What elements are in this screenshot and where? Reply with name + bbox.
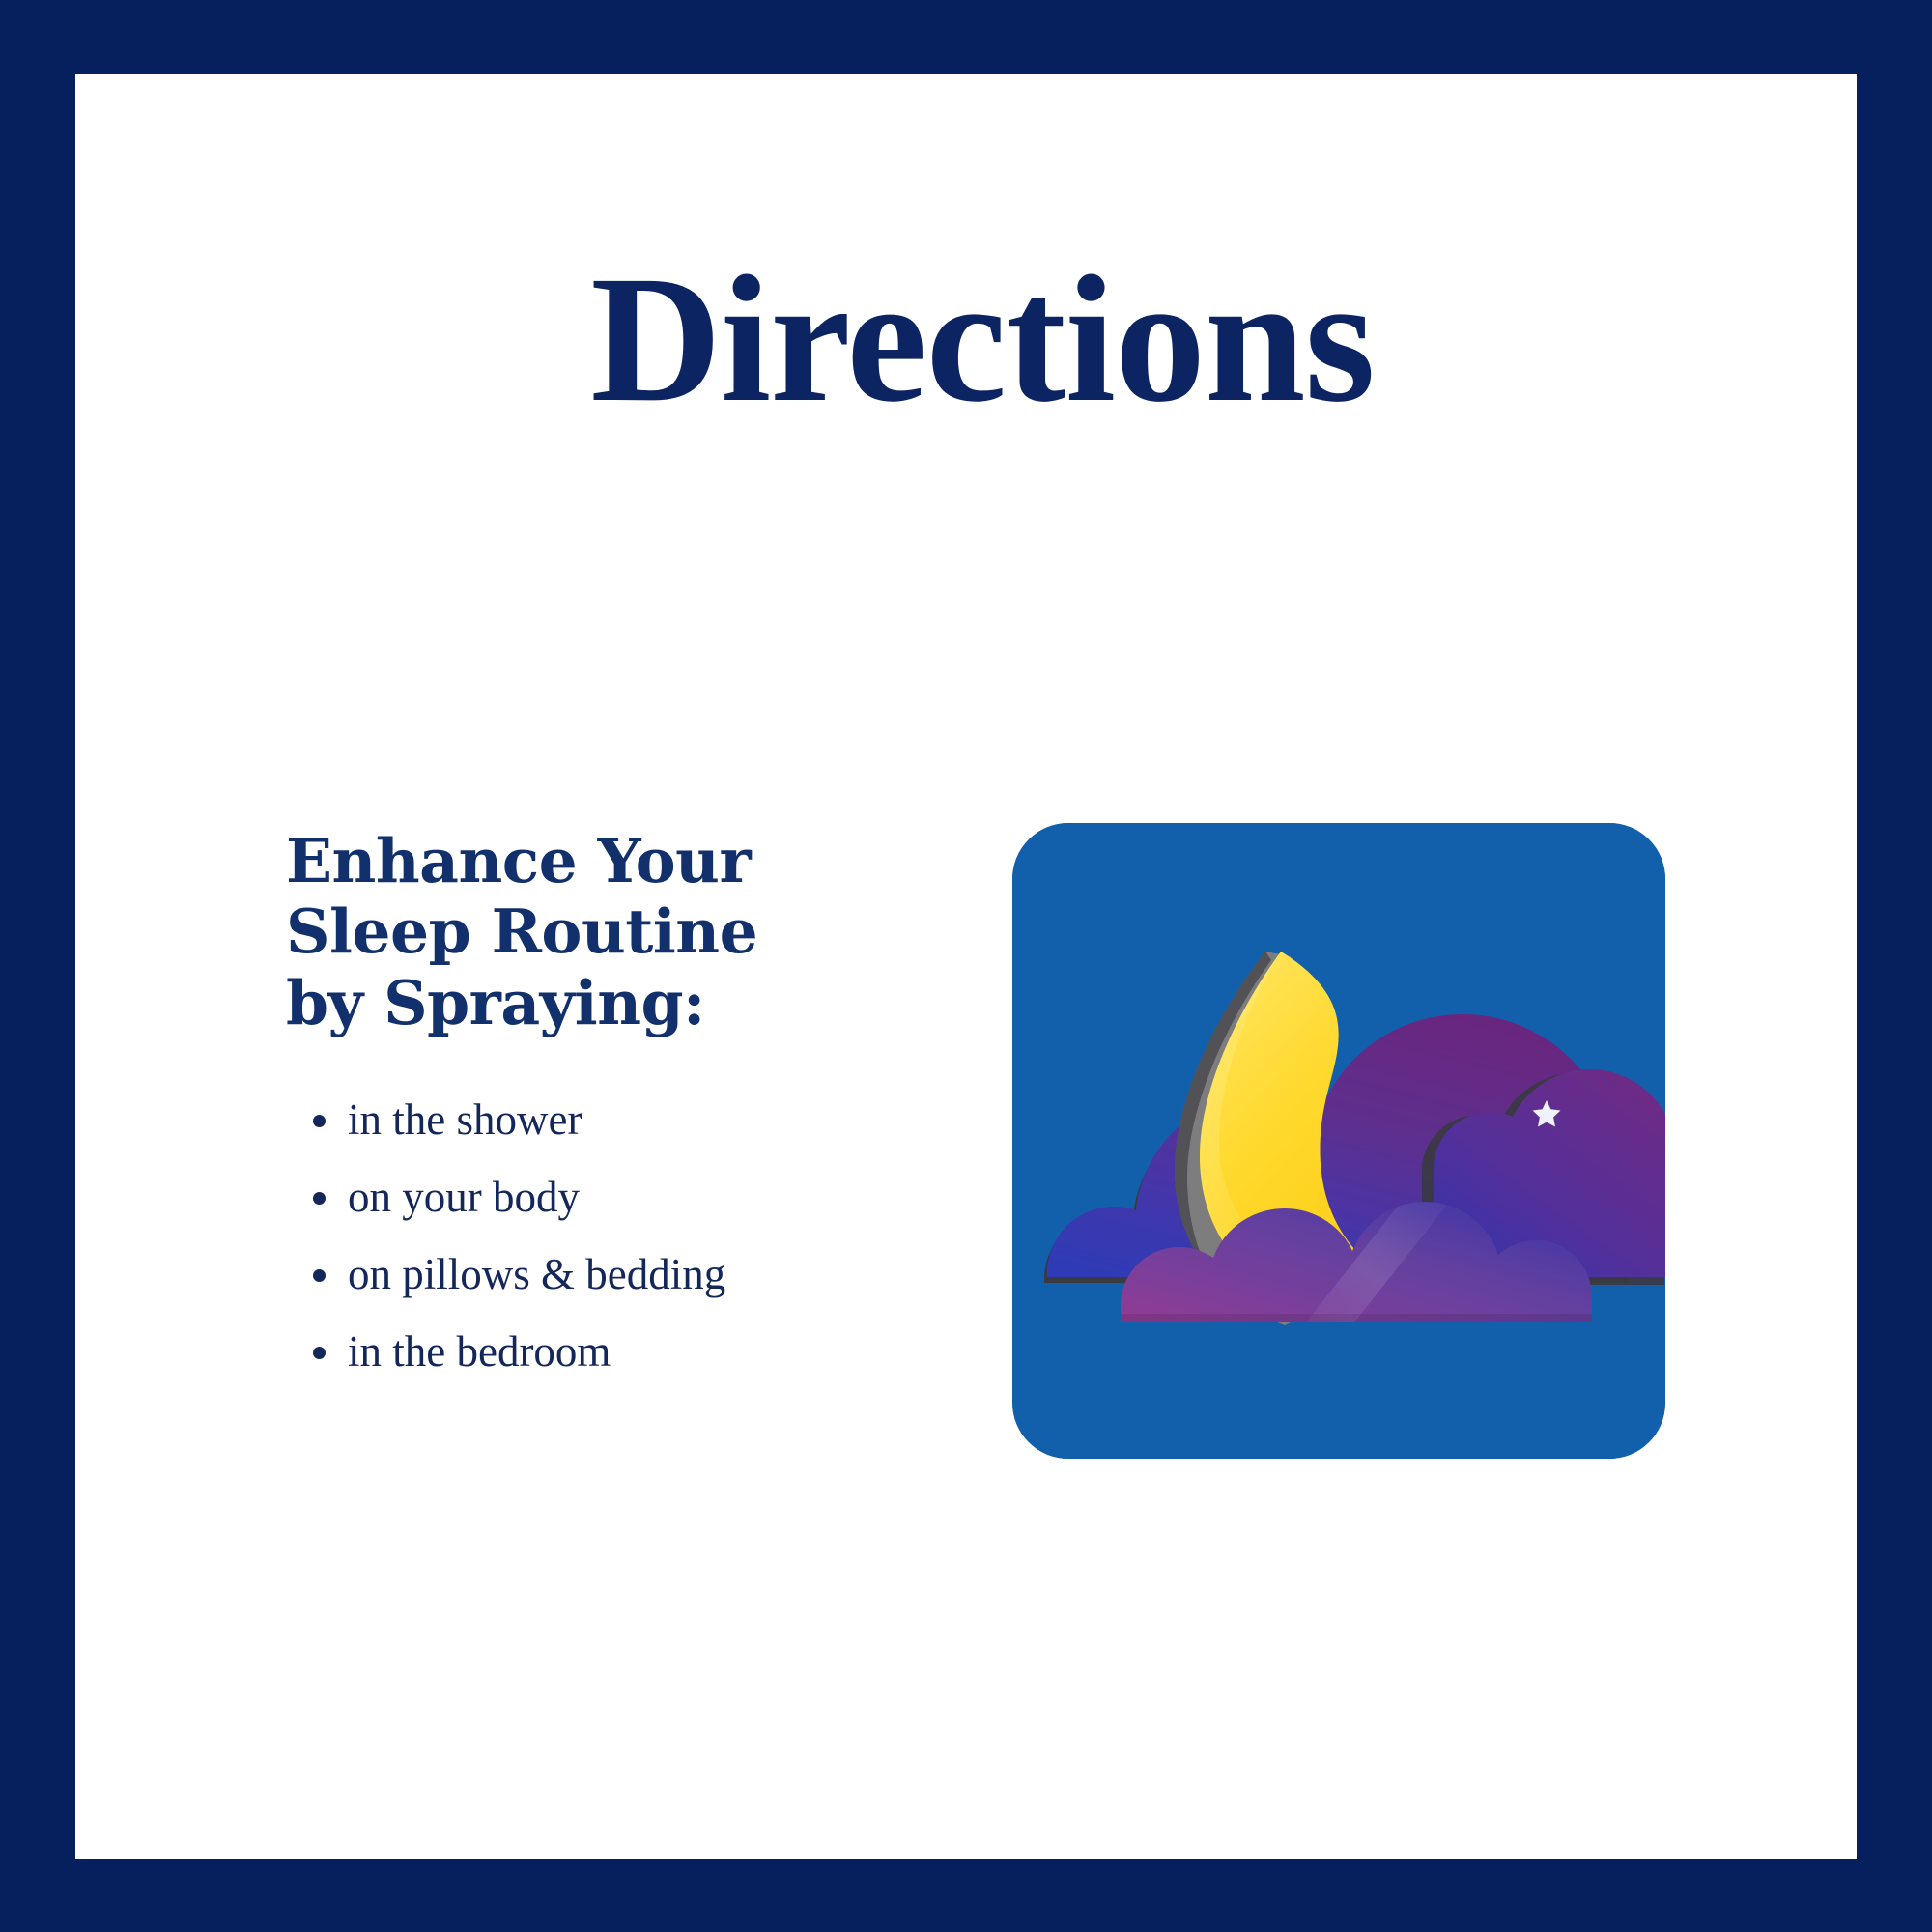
bullet-dot-icon: [313, 1192, 326, 1205]
poster-canvas: Directions Enhance Your Sleep Routine by…: [75, 74, 1857, 1859]
list-item: on your body: [313, 1176, 885, 1219]
list-item-label: in the bedroom: [348, 1327, 611, 1376]
subheading-line-2: Sleep Routine: [286, 896, 788, 967]
list-item-label: in the shower: [348, 1095, 582, 1144]
subheading-line-1: Enhance Your: [286, 826, 788, 896]
list-item: in the bedroom: [313, 1330, 885, 1374]
list-item: on pillows & bedding: [313, 1253, 885, 1296]
directions-list: in the shower on your body on pillows & …: [286, 1098, 885, 1374]
list-item-label: on pillows & bedding: [348, 1250, 725, 1298]
list-item: in the shower: [313, 1098, 885, 1142]
night-moon-cloud-illustration: [1012, 823, 1665, 1459]
content-row: Enhance Your Sleep Routine by Spraying: …: [286, 823, 1667, 1459]
night-illustration-card: [1012, 823, 1665, 1459]
list-item-label: on your body: [348, 1173, 580, 1221]
subheading-line-3: by Spraying:: [286, 968, 788, 1038]
text-column: Enhance Your Sleep Routine by Spraying: …: [286, 823, 885, 1374]
bullet-dot-icon: [313, 1269, 326, 1282]
poster-frame: Directions Enhance Your Sleep Routine by…: [0, 0, 1932, 1932]
page-title: Directions: [75, 248, 1857, 430]
bullet-dot-icon: [313, 1347, 326, 1359]
bullet-dot-icon: [313, 1115, 326, 1127]
section-subheading: Enhance Your Sleep Routine by Spraying:: [286, 826, 788, 1038]
page-title-block: Directions: [75, 248, 1857, 430]
